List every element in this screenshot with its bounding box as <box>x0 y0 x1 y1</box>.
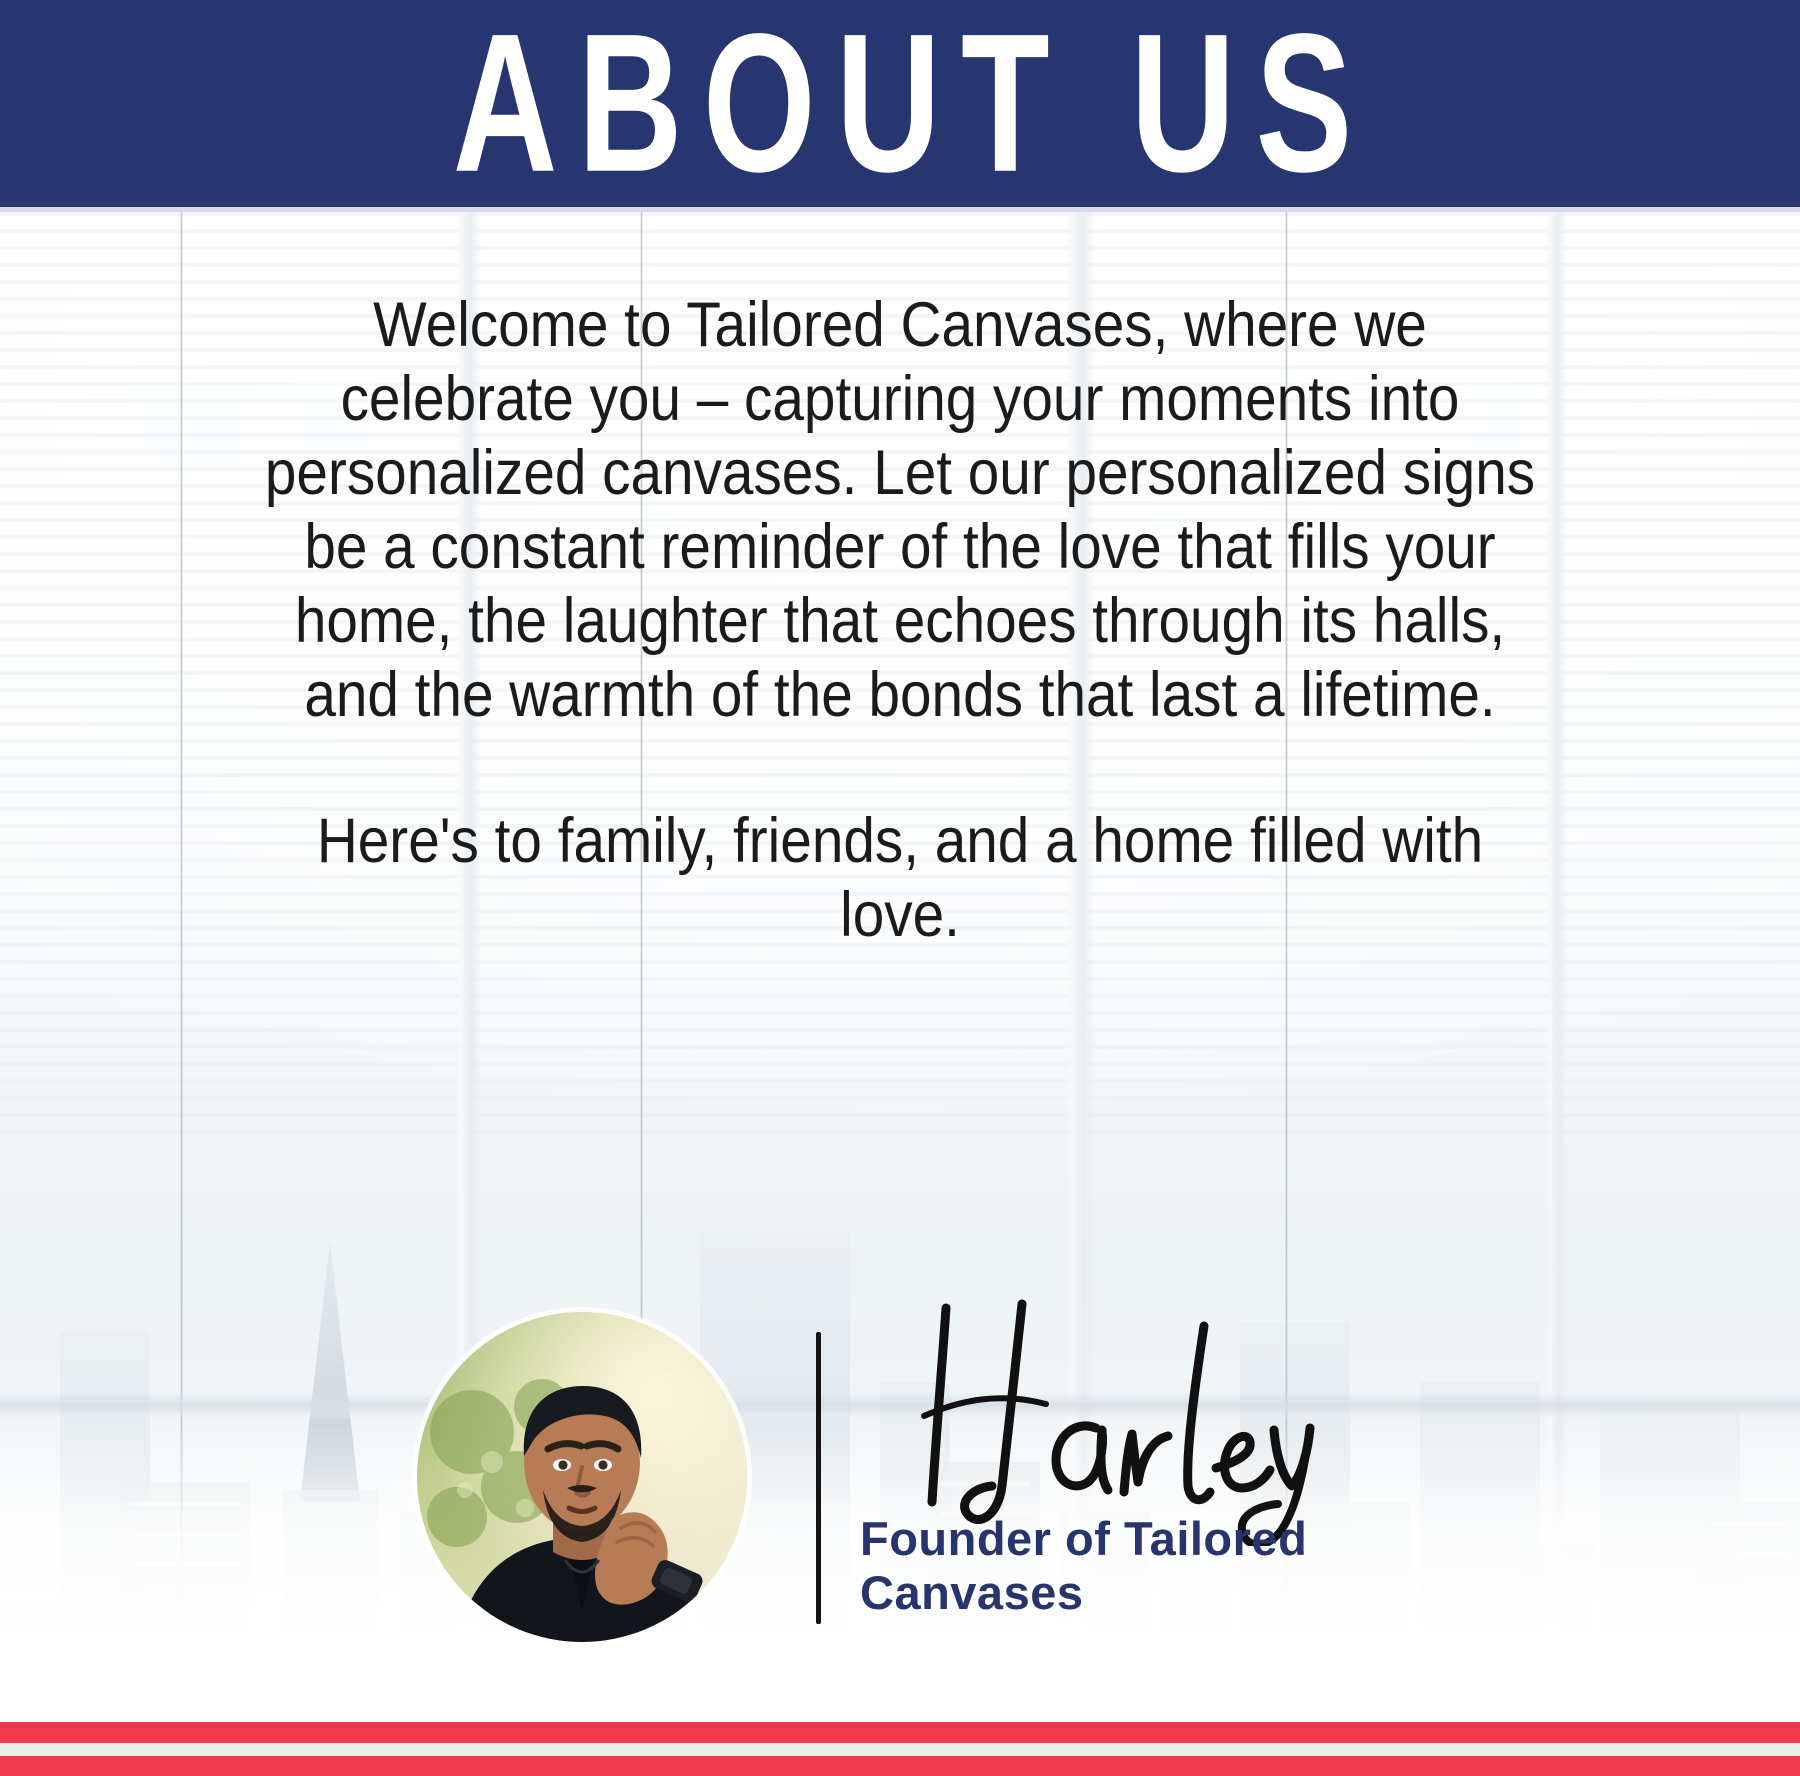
about-paragraph-1: Welcome to Tailored Canvases, where we c… <box>261 288 1539 732</box>
vertical-divider <box>816 1332 821 1624</box>
paragraph-spacer <box>261 732 1539 804</box>
avatar <box>417 1312 747 1642</box>
header-banner: ABOUT US <box>0 0 1800 207</box>
harley-signature <box>850 1296 1410 1546</box>
about-copy: Welcome to Tailored Canvases, where we c… <box>261 288 1539 952</box>
about-paragraph-2: Here's to family, friends, and a home fi… <box>261 804 1539 952</box>
founder-block: Founder of Tailored Canvases <box>0 1290 1800 1670</box>
page-title: ABOUT US <box>453 5 1373 202</box>
header-divider <box>0 207 1800 212</box>
footer-stripe-gap <box>0 1743 1800 1756</box>
founder-title: Founder of Tailored Canvases <box>860 1512 1400 1620</box>
founder-title-line-1: Founder of Tailored <box>860 1512 1307 1565</box>
about-us-card: ABOUT US Welcome to Tailored Canvases, w… <box>0 0 1800 1776</box>
founder-title-line-2: Canvases <box>860 1566 1400 1620</box>
footer-stripe-top <box>0 1722 1800 1743</box>
signature-area: Founder of Tailored Canvases <box>840 1290 1460 1670</box>
footer-stripe-bottom <box>0 1756 1800 1776</box>
